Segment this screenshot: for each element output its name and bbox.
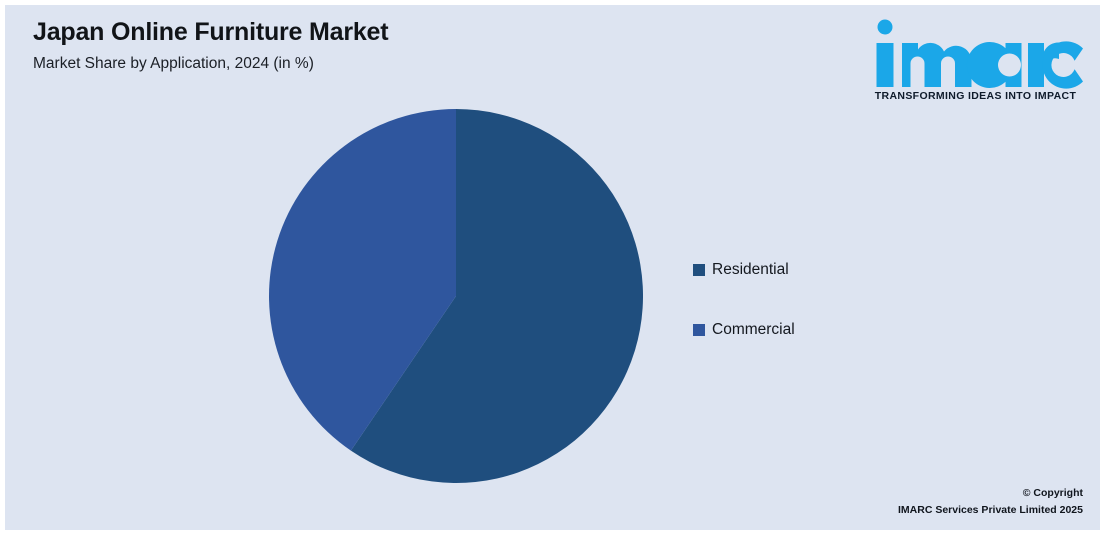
chart-card: Japan Online Furniture Market Market Sha… [0, 0, 1105, 535]
pie-chart [269, 109, 643, 483]
legend-swatch-residential [693, 264, 705, 276]
chart-subtitle: Market Share by Application, 2024 (in %) [33, 55, 653, 74]
legend-label-commercial: Commercial [712, 322, 795, 338]
copyright-notice: © Copyright IMARC Services Private Limit… [898, 485, 1083, 518]
pie-chart-svg [269, 109, 643, 483]
legend-item-commercial[interactable]: Commercial [693, 315, 795, 345]
logo-tagline: TRANSFORMING IDEAS INTO IMPACT [868, 90, 1083, 102]
copyright-line-1: © Copyright [898, 485, 1083, 501]
imarc-logo: TRANSFORMING IDEAS INTO IMPACT [868, 15, 1083, 102]
chart-header: Japan Online Furniture Market Market Sha… [33, 19, 653, 73]
legend-swatch-commercial [693, 324, 705, 336]
legend-item-residential[interactable]: Residential [693, 255, 795, 285]
page-title: Japan Online Furniture Market [33, 19, 653, 47]
chart-legend: Residential Commercial [693, 255, 795, 375]
imarc-wordmark-icon [868, 15, 1083, 89]
copyright-line-2: IMARC Services Private Limited 2025 [898, 502, 1083, 518]
legend-label-residential: Residential [712, 262, 789, 278]
